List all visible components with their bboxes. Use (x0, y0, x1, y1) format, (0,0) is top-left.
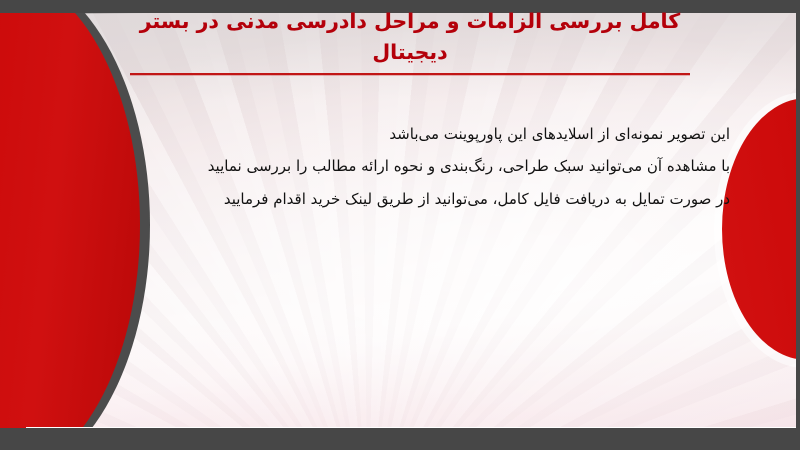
presentation-slide: کامل بررسی الزامات و مراحل دادرسی مدنی د… (0, 0, 800, 450)
slide-frame-bottom-band (0, 428, 800, 450)
slide-title-line-1: کامل بررسی الزامات و مراحل دادرسی مدنی د… (100, 6, 720, 37)
slide-title-line-2: دیجیتال (100, 37, 720, 68)
slide-title-block: کامل بررسی الزامات و مراحل دادرسی مدنی د… (100, 6, 720, 75)
slide-body-line-1: این تصویر نمونه‌ای از اسلایدهای این پاور… (90, 118, 730, 150)
slide-frame-right-band (796, 0, 800, 450)
slide-body-line-2: با مشاهده آن می‌توانید سبک طراحی، رنگ‌بن… (90, 150, 730, 182)
title-divider-rule (130, 73, 690, 75)
slide-body-line-3: در صورت تمایل به دریافت فایل کامل، می‌تو… (90, 183, 730, 215)
slide-body-block: این تصویر نمونه‌ای از اسلایدهای این پاور… (90, 118, 730, 215)
